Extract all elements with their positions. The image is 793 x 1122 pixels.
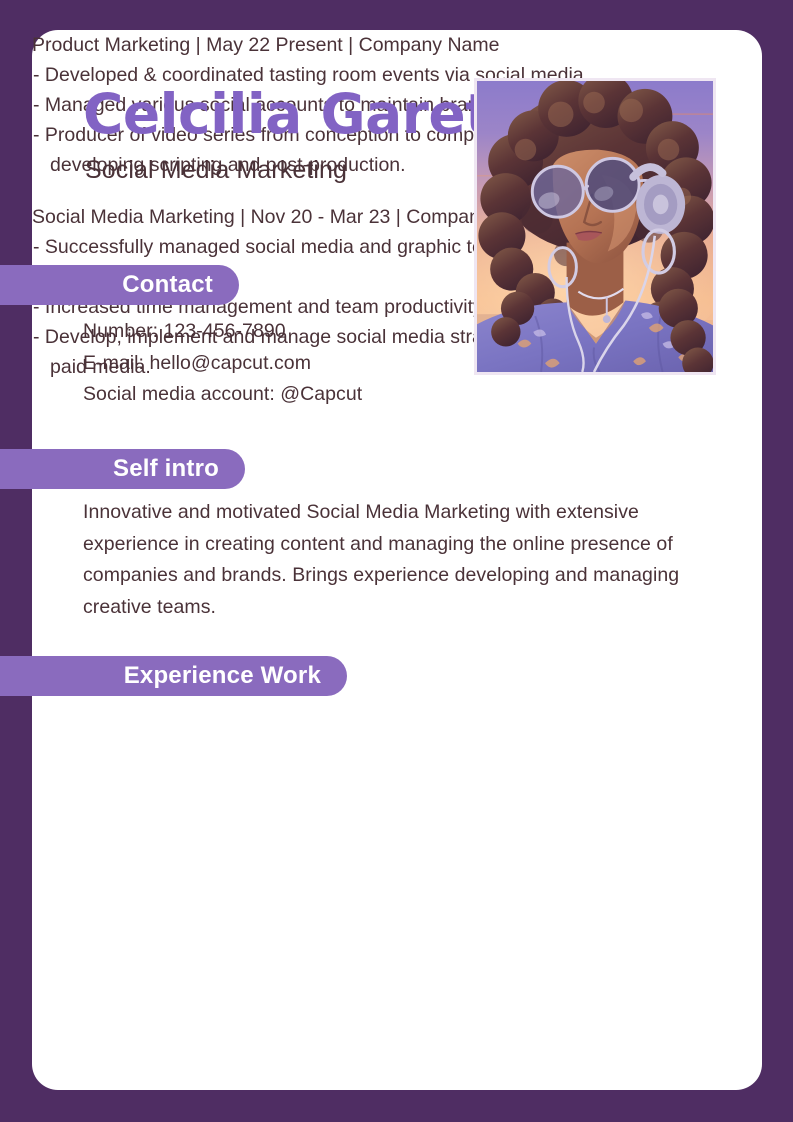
header-block: Celcilia Garet Social Media Marketing [83,86,503,185]
job-title-subtitle: Social Media Marketing [85,156,503,185]
section-badge-contact: Contact [0,265,239,305]
section-badge-experience-work: Experience Work [0,656,347,696]
job-heading: Product Marketing | May 22 Present | Com… [32,30,692,60]
section-badge-self-intro: Self intro [0,449,245,489]
page-title: Celcilia Garet [83,86,503,144]
contact-list: Number: 123-456-7890 E-mail: hello@capcu… [83,316,603,411]
resume-card: Celcilia Garet Social Media Marketing [32,30,762,1090]
contact-phone: Number: 123-456-7890 [83,316,603,348]
contact-email: E-mail: hello@capcut.com [83,348,603,380]
contact-social: Social media account: @Capcut [83,379,603,411]
self-intro-paragraph: Innovative and motivated Social Media Ma… [83,497,725,623]
